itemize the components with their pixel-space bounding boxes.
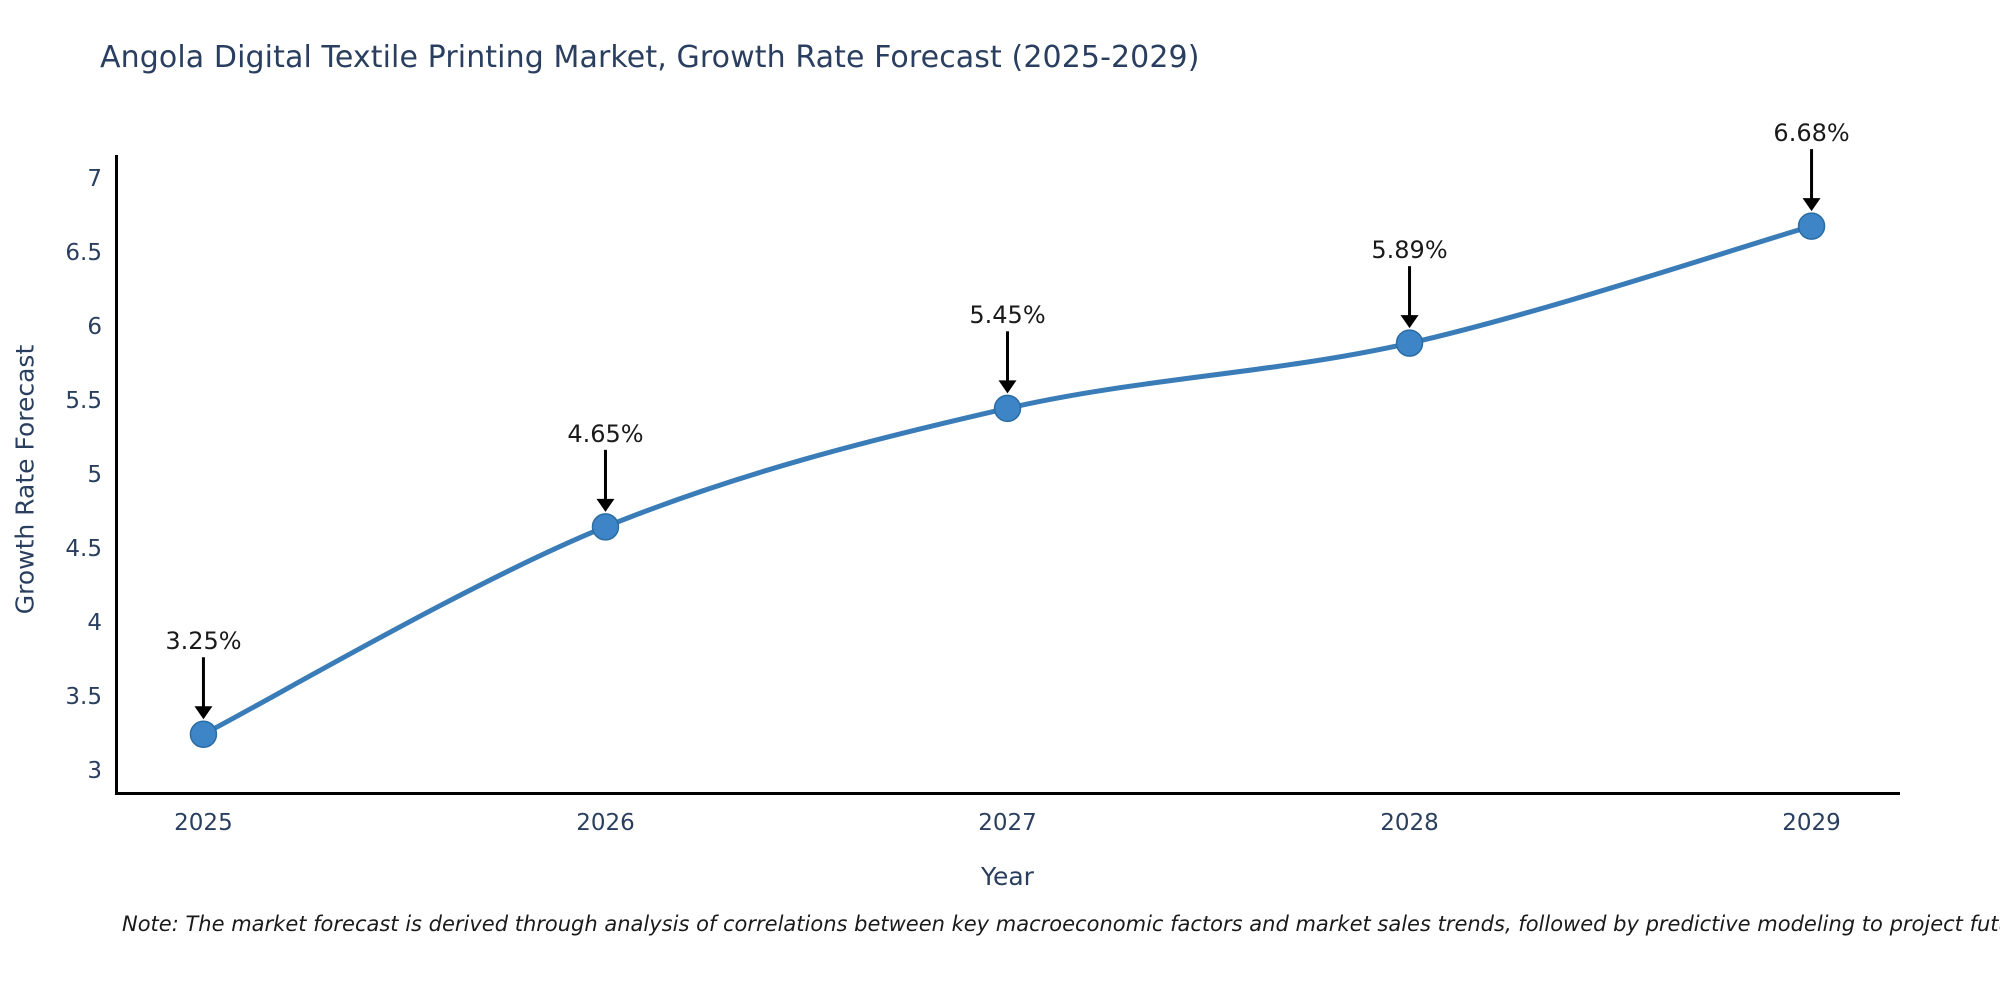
x-tick-labels: 20252026202720282029 <box>115 810 1900 844</box>
annotation-arrow-head <box>194 706 212 719</box>
annotation-arrow-head <box>999 380 1017 393</box>
x-tick-label: 2026 <box>576 810 635 836</box>
series-layer <box>115 155 1900 795</box>
footnote-text: Note: The market forecast is derived thr… <box>122 912 2000 936</box>
y-tick-label: 3.5 <box>65 684 102 710</box>
chart-figure: Angola Digital Textile Printing Market, … <box>0 0 2000 1000</box>
y-tick-label: 5.5 <box>65 388 102 414</box>
y-tick-label: 6 <box>87 314 102 340</box>
x-axis-title: Year <box>115 862 1900 891</box>
data-point-marker[interactable] <box>1799 213 1825 239</box>
data-point-label: 6.68% <box>1773 119 1849 147</box>
data-point-label: 4.65% <box>567 420 643 448</box>
annotation-arrow-head <box>1401 315 1419 328</box>
y-tick-label: 7 <box>87 166 102 192</box>
data-point-marker[interactable] <box>995 395 1021 421</box>
y-tick-label: 3 <box>87 758 102 784</box>
y-tick-labels: 33.544.555.566.57 <box>40 155 102 795</box>
data-point-label: 5.89% <box>1371 236 1447 264</box>
x-tick-label: 2025 <box>174 810 233 836</box>
x-tick-label: 2027 <box>978 810 1037 836</box>
annotation-arrow-head <box>1803 198 1821 211</box>
y-tick-label: 5 <box>87 462 102 488</box>
data-point-marker[interactable] <box>190 721 216 747</box>
data-point-marker[interactable] <box>592 514 618 540</box>
y-tick-label: 4.5 <box>65 536 102 562</box>
data-point-marker[interactable] <box>1397 330 1423 356</box>
chart-title: Angola Digital Textile Printing Market, … <box>100 40 1200 75</box>
y-axis-title: Growth Rate Forecast <box>11 270 40 690</box>
x-tick-label: 2028 <box>1380 810 1439 836</box>
data-point-label: 3.25% <box>165 627 241 655</box>
plot-area <box>115 155 1900 795</box>
y-tick-label: 4 <box>87 610 102 636</box>
data-point-label: 5.45% <box>969 301 1045 329</box>
annotation-arrow-head <box>596 499 614 512</box>
y-tick-label: 6.5 <box>65 240 102 266</box>
x-tick-label: 2029 <box>1782 810 1841 836</box>
